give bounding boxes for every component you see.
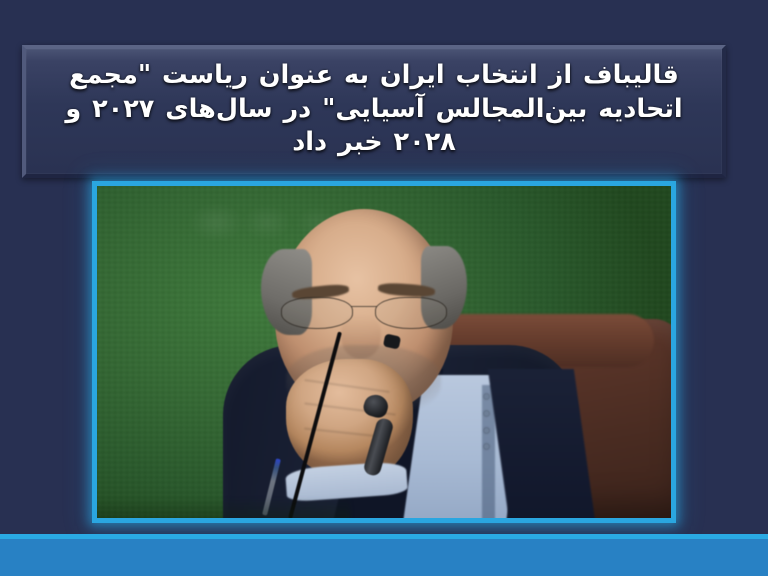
bottom-bar-accent-stripe: [0, 534, 768, 539]
news-graphic-page: قالیباف از انتخاب ایران به عنوان ریاست "…: [0, 0, 768, 576]
photo-frame: [92, 181, 676, 523]
headline-banner: قالیباف از انتخاب ایران به عنوان ریاست "…: [22, 45, 726, 178]
page-title: قالیباف از انتخاب ایران به عنوان ریاست "…: [40, 59, 708, 161]
news-photo: [97, 186, 671, 518]
eyeglass-bridge: [351, 306, 378, 308]
headline-inner: قالیباف از انتخاب ایران به عنوان ریاست "…: [40, 59, 708, 161]
desk-edge: [97, 498, 350, 518]
eyeglass-lens-right: [375, 297, 447, 329]
bottom-bar: [0, 534, 768, 576]
